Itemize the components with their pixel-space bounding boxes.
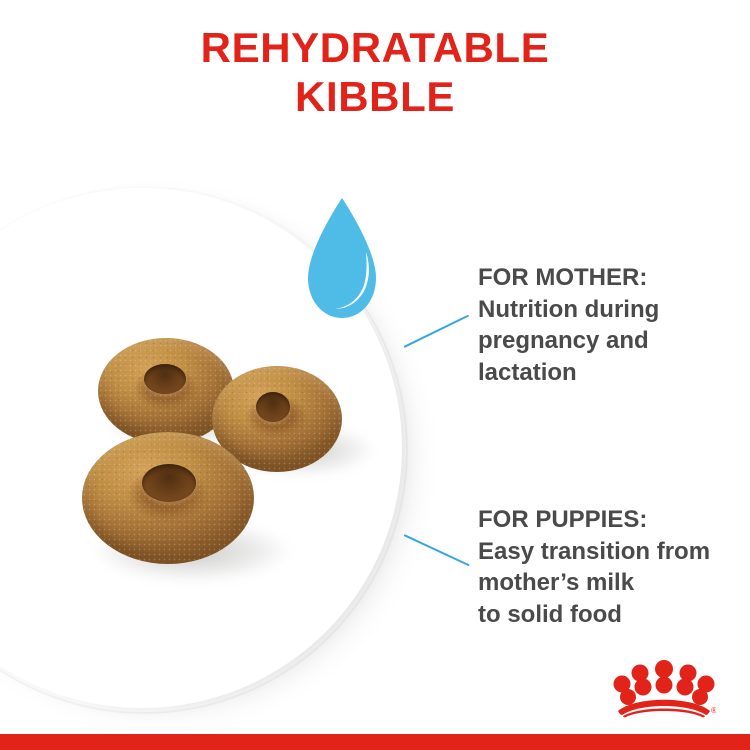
connector-line-puppies (404, 534, 470, 566)
footer-bar (0, 734, 750, 750)
crown-logo-icon: ® (612, 660, 716, 718)
title-line-1: REHYDRATABLE (0, 24, 750, 73)
benefit-text-line: pregnancy and (478, 325, 746, 357)
benefit-text-line: Nutrition during (478, 294, 746, 326)
title-line-2: KIBBLE (0, 73, 750, 122)
benefit-text-line: Easy transition from (478, 536, 746, 568)
water-droplet-icon (306, 196, 378, 320)
benefit-heading: FOR MOTHER: (478, 262, 746, 294)
registered-mark: ® (711, 706, 716, 715)
kibble-center-hole (256, 392, 290, 422)
kibble-pieces (60, 320, 390, 620)
benefit-for-puppies: FOR PUPPIES: Easy transition from mother… (478, 504, 746, 631)
benefit-text-line: mother’s milk (478, 567, 746, 599)
kibble-center-hole (144, 364, 186, 394)
promo-panel: REHYDRATABLE KIBBLE (0, 0, 750, 750)
page-title: REHYDRATABLE KIBBLE (0, 24, 750, 121)
benefit-text-line: to solid food (478, 599, 746, 631)
kibble-center-hole (142, 464, 196, 502)
benefit-for-mother: FOR MOTHER: Nutrition during pregnancy a… (478, 262, 746, 389)
benefit-heading: FOR PUPPIES: (478, 504, 746, 536)
connector-line-mother (404, 315, 470, 348)
benefit-text-line: lactation (478, 357, 746, 389)
kibble-piece (82, 432, 254, 564)
